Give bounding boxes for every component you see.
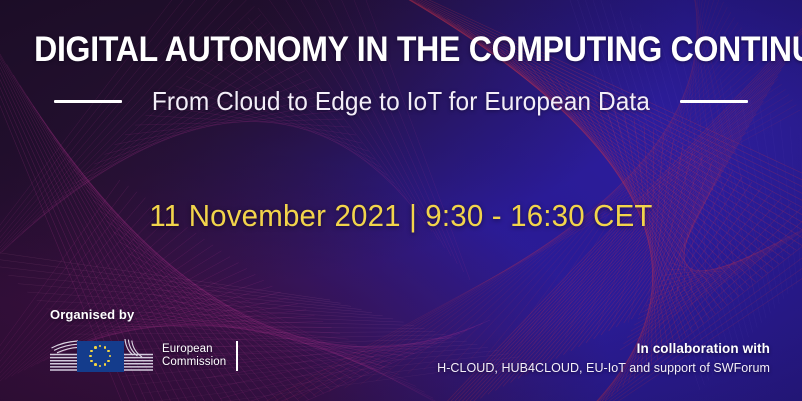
ec-logo-fan-left-icon (50, 339, 78, 373)
subtitle-rule-right (680, 100, 748, 103)
event-datetime: 11 November 2021 | 9:30 - 16:30 CET (20, 198, 782, 234)
ec-wordmark-line1: European (162, 343, 213, 355)
organiser-block: Organised by (50, 307, 238, 373)
subtitle-row: From Cloud to Edge to IoT for European D… (0, 86, 802, 116)
subtitle-rule-left (54, 100, 122, 103)
banner-content: DIGITAL AUTONOMY IN THE COMPUTING CONTIN… (0, 0, 802, 401)
collaboration-block: In collaboration with H-CLOUD, HUB4CLOUD… (437, 340, 770, 376)
collaboration-partners: H-CLOUD, HUB4CLOUD, EU-IoT and support o… (437, 360, 770, 376)
collaboration-label: In collaboration with (437, 340, 770, 357)
european-commission-logo: European Commission (50, 339, 238, 373)
ec-wordmark: European Commission (162, 343, 226, 370)
page-title: DIGITAL AUTONOMY IN THE COMPUTING CONTIN… (34, 30, 768, 70)
page-subtitle: From Cloud to Edge to IoT for European D… (152, 86, 650, 116)
eu-flag-icon (77, 341, 124, 372)
event-banner: DIGITAL AUTONOMY IN THE COMPUTING CONTIN… (0, 0, 802, 401)
ec-logo-fan-right-icon (123, 339, 153, 373)
organised-by-label: Organised by (50, 307, 238, 323)
ec-wordmark-line2: Commission (162, 356, 226, 368)
ec-logo-divider (236, 341, 238, 371)
